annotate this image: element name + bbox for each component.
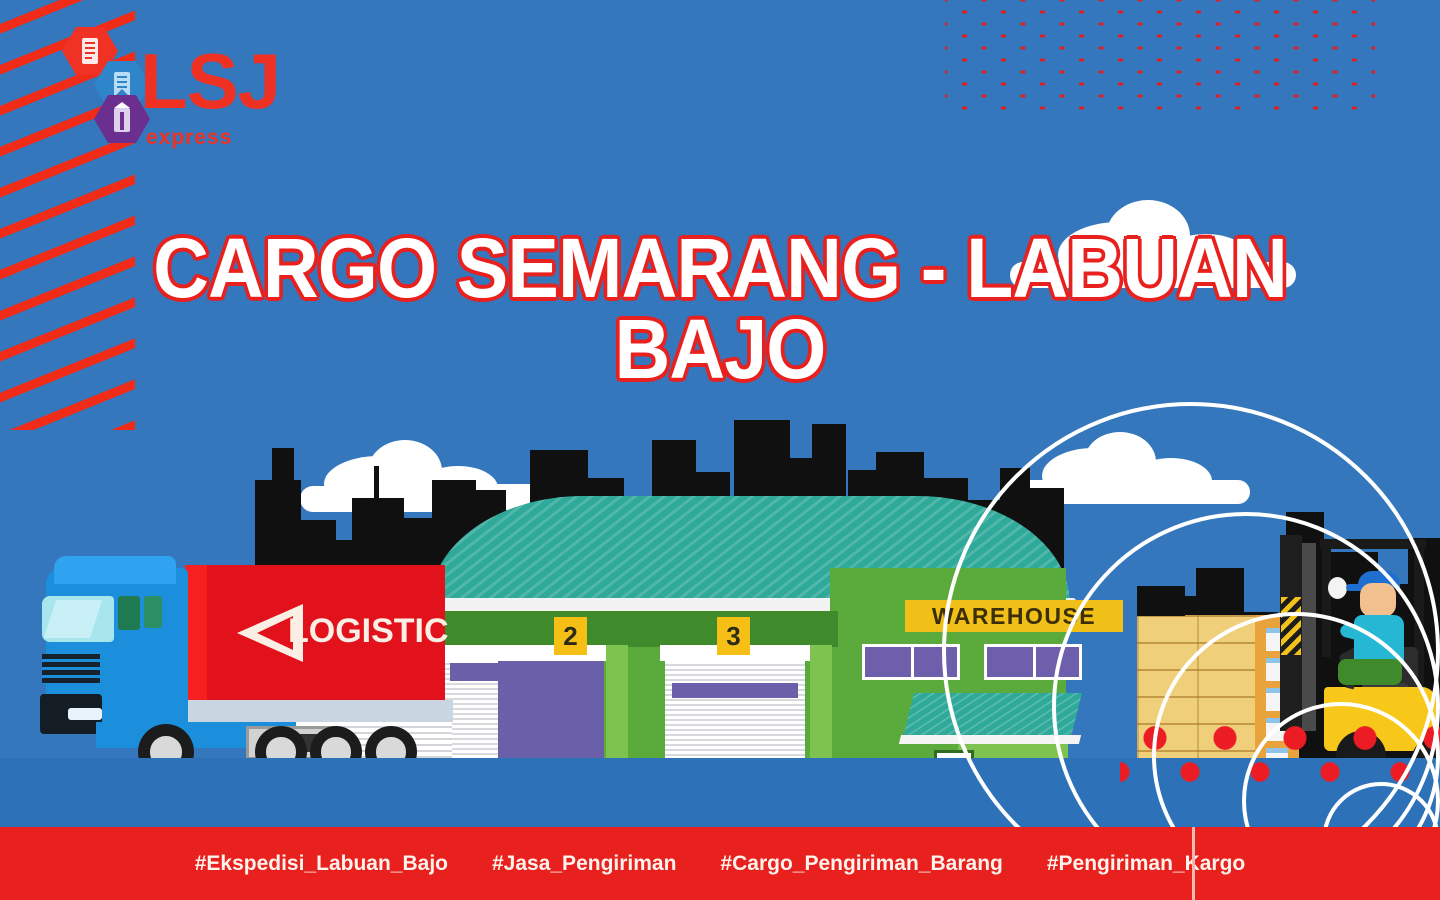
logo-tagline: express bbox=[146, 126, 232, 150]
truck-container-shade bbox=[185, 565, 207, 700]
hashtag-separator bbox=[1192, 827, 1195, 900]
truck-side-window-2 bbox=[144, 596, 162, 628]
truck-cab-top bbox=[54, 556, 176, 584]
hashtag-item[interactable]: #Cargo_Pengiriman_Barang bbox=[720, 852, 1002, 876]
cargo-truck: LOGISTIC bbox=[40, 540, 460, 790]
brand-logo[interactable]: LSJ express bbox=[62, 20, 302, 150]
truck-side-window bbox=[118, 596, 140, 630]
hashtag-item[interactable]: #Ekspedisi_Labuan_Bajo bbox=[195, 852, 448, 876]
promo-banner: 2 3 WAREHOUSE LOGISTIC bbox=[0, 0, 1440, 900]
title-line-2: BAJO bbox=[58, 309, 1383, 390]
title-line-1: CARGO SEMARANG - LABUAN bbox=[58, 228, 1383, 309]
truck-headlight bbox=[68, 708, 102, 720]
warehouse-bay-2-rail bbox=[492, 645, 610, 661]
truck-grille bbox=[42, 654, 100, 684]
warehouse-bay-number-2: 2 bbox=[554, 617, 587, 655]
warehouse-band bbox=[438, 611, 838, 647]
hashtag-bar: #Ekspedisi_Labuan_Bajo #Jasa_Pengiriman … bbox=[0, 827, 1440, 900]
page-title: CARGO SEMARANG - LABUAN BAJO bbox=[58, 228, 1383, 389]
truck-container-label: LOGISTIC bbox=[288, 612, 449, 651]
hashtag-item[interactable]: #Jasa_Pengiriman bbox=[492, 852, 676, 876]
truck-trailer-base bbox=[185, 700, 453, 722]
dot-pattern-decoration bbox=[945, 0, 1375, 115]
hashtag-item[interactable]: #Pengiriman_Kargo bbox=[1047, 852, 1245, 876]
logo-wordmark: LSJ bbox=[140, 42, 280, 120]
warehouse-bay-3-header bbox=[672, 683, 798, 698]
warehouse-bay-number-3: 3 bbox=[717, 617, 750, 655]
